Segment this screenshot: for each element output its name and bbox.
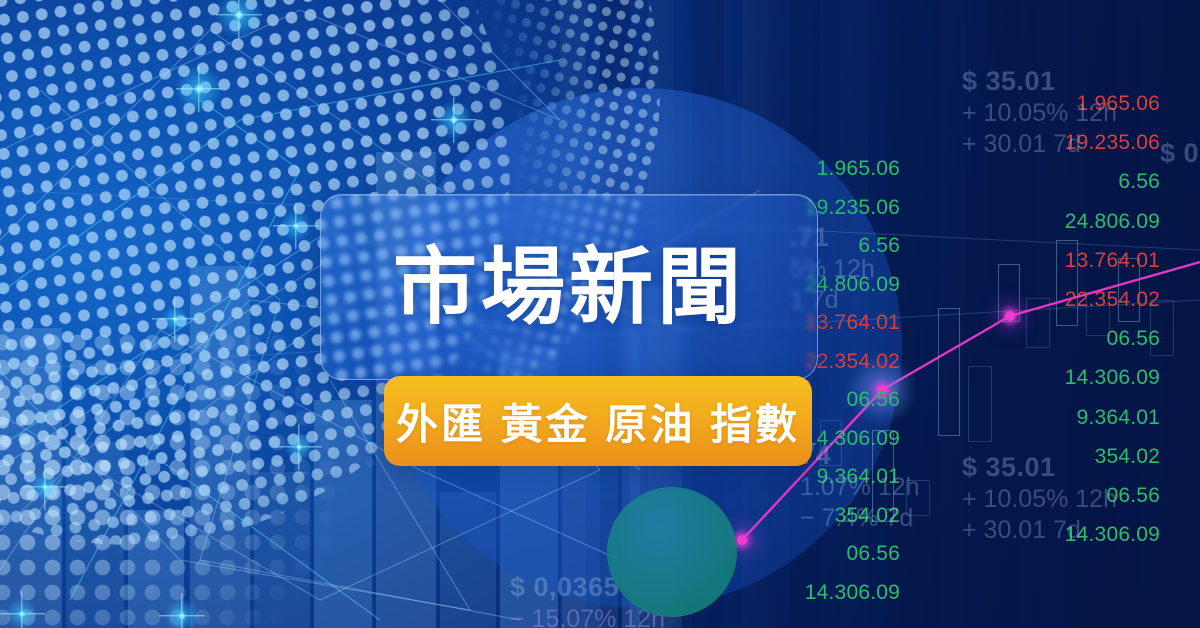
quote-change-7d: + 30.01 7d [962,130,1117,159]
quote-change-12h: + 10.05% 12h [962,485,1117,514]
ticker-value: 22.354.02 [980,280,1160,319]
categories-button[interactable]: 外匯 黃金 原油 指數 [384,376,812,466]
page-title: 市場新聞 [321,245,817,329]
ticker-value: 14.306.09 [980,358,1160,397]
ticker-value: 06.56 [720,535,900,574]
market-news-banner: 1.965.06 19.235.06 6.56 24.806.09 13.764… [0,0,1200,628]
ticker-value: 14.306.09 [720,574,900,613]
quote-change-7d: + 30.01 7d [962,516,1117,545]
ticker-value: 9.364.01 [980,398,1160,437]
quote-price: $ 0,0365 [510,572,665,603]
quote-change-12h: − 15.07% 12h [510,605,665,628]
quote-change-12h: 1.07% 12h [800,473,920,502]
quote-bottom-left: $ 0,0365 − 15.07% 12h − 12.4% 7d [510,572,665,628]
quote-price: $ 35.01 [962,66,1117,97]
quote-change-7d: − 7.4% 7d [800,504,920,533]
ticker-value: 6.56 [980,162,1160,201]
ticker-value: 06.56 [980,319,1160,358]
quote-change-12h: + 10.05% 12h [962,99,1117,128]
quote-edge-right: $ 0 [1160,138,1199,169]
ticker-value: 1.965.06 [720,150,900,189]
headline-card: 市場新聞 [320,194,818,380]
quote-price: $ 35.01 [962,452,1117,483]
quote-bottom-right: $ 35.01 + 10.05% 12h + 30.01 7d [962,452,1117,545]
quote-top-right: $ 35.01 + 10.05% 12h + 30.01 7d [962,66,1117,159]
quote-price: 74 [800,440,920,471]
categories-button-label: 外匯 黃金 原油 指數 [396,391,800,452]
quote-mid-right: 74 1.07% 12h − 7.4% 7d [800,440,920,533]
ticker-value: 24.806.09 [980,202,1160,241]
quote-price: $ 0 [1160,138,1199,169]
ticker-value: 13.764.01 [980,241,1160,280]
